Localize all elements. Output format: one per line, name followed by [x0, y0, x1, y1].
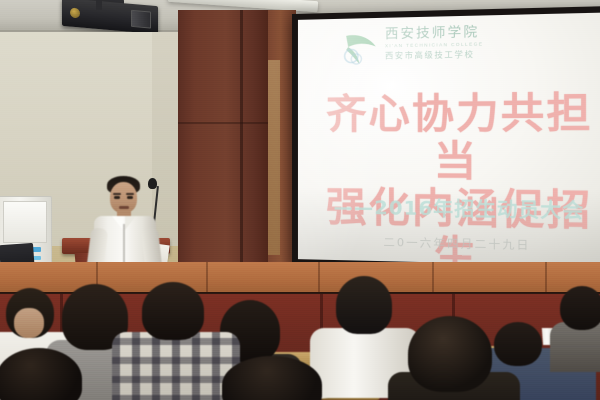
institution-name-cn: 西安技师学院 [385, 20, 533, 43]
audience-member-7 [556, 286, 600, 366]
projector-lens-icon [70, 8, 80, 19]
audience-head [142, 282, 204, 340]
audience-head [408, 316, 492, 392]
projector-mount-post [96, 0, 102, 10]
presenter-eyebrow [113, 193, 121, 195]
audience-member-4 [120, 282, 230, 400]
institution-name-cn-secondary: 西安市高级技工学校 [385, 48, 533, 62]
projector-vent [131, 10, 151, 29]
wood-panel-seam [178, 122, 270, 124]
audience-head [560, 286, 600, 330]
projection-screen-surface: 西安技师学院 XI'AN TECHNICIAN COLLEGE 西安市高级技工学… [298, 12, 600, 266]
audience-head [0, 348, 82, 400]
presenter-eye [127, 196, 133, 199]
audience-member-8 [398, 316, 510, 400]
audience-head [222, 356, 322, 400]
audience-member-9 [0, 348, 88, 400]
audience-member-10 [222, 356, 326, 400]
projection-screen-frame: 西安技师学院 XI'AN TECHNICIAN COLLEGE 西安市高级技工学… [292, 6, 600, 274]
slide-logo: 西安技师学院 XI'AN TECHNICIAN COLLEGE 西安市高级技工学… [342, 19, 531, 70]
slide-subtitle: ——2016年招生动员大会 [306, 192, 600, 224]
panel-seam [545, 262, 547, 296]
cabinet-panel [3, 201, 47, 243]
presenter-eyebrow [126, 193, 134, 195]
panel-seam [432, 262, 434, 296]
audience-head [336, 276, 392, 334]
conference-hall-photo: 西安技师学院 XI'AN TECHNICIAN COLLEGE 西安市高级技工学… [0, 0, 600, 400]
green-leaf-logo-mark [342, 26, 383, 67]
slide-title-line-1: 齐心协力共担当 [306, 89, 600, 187]
audience-face [14, 308, 44, 338]
wood-panel-strip-light [268, 60, 280, 255]
audience-body-plaid [112, 332, 240, 400]
slide-logo-text: 西安技师学院 XI'AN TECHNICIAN COLLEGE 西安市高级技工学… [385, 20, 533, 62]
presenter-eye [114, 196, 120, 199]
